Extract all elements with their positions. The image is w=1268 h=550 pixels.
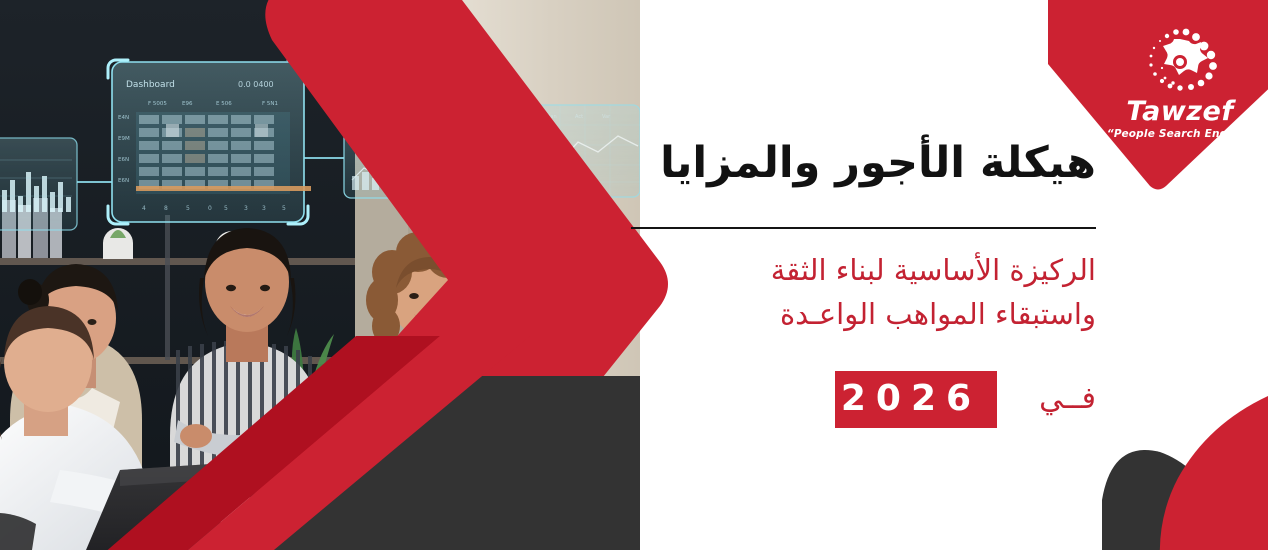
svg-text:0.0 0400: 0.0 0400 [238, 80, 274, 89]
office-photo: Dashboard 0.0 0400 F 5005E96 E 506F 5N1 … [0, 0, 640, 550]
svg-text:E9M: E9M [118, 136, 130, 142]
bar-chart-panel [0, 138, 77, 230]
promotional-banner: Dashboard 0.0 0400 F 5005E96 E 506F 5N1 … [0, 0, 1268, 550]
svg-text:Dashboard: Dashboard [126, 80, 175, 90]
subtitle-line-1: الركيزة الأساسية لبناء الثقة [628, 248, 1096, 292]
svg-text:Index Metrics: Index Metrics [356, 137, 390, 143]
subtitle-line-2: واستبقاء المواهب الواعـدة [628, 292, 1096, 336]
svg-text:Distribution: Distribution [356, 129, 385, 135]
year-prefix-label: فــي [1039, 384, 1096, 414]
svg-text:3: 3 [262, 205, 266, 212]
svg-text:Var: Var [602, 114, 611, 120]
subtitle-block: الركيزة الأساسية لبناء الثقة واستبقاء ال… [628, 248, 1096, 336]
svg-text:F 5005: F 5005 [148, 101, 167, 107]
line-chart-panel: RevPlan ActVar [512, 105, 640, 197]
svg-text:5: 5 [224, 205, 228, 212]
water-glass [312, 440, 354, 502]
svg-text:Rev: Rev [520, 114, 529, 120]
data-table-panel: Dashboard 0.0 0400 F 5005E96 E 506F 5N1 … [108, 60, 311, 224]
svg-text:8: 8 [164, 205, 168, 212]
title-divider [631, 227, 1096, 229]
svg-text:F 5N1: F 5N1 [262, 101, 278, 107]
year-row: فــي 2026 [628, 370, 1096, 428]
svg-text:E 506: E 506 [216, 101, 232, 107]
svg-text:3: 3 [244, 205, 248, 212]
svg-text:E6N: E6N [118, 157, 129, 163]
office-photo-illustration: Dashboard 0.0 0400 F 5005E96 E 506F 5N1 … [0, 0, 640, 550]
headline-panel: هيكلة الأجور والمزايا الركيزة الأساسية ل… [628, 0, 1268, 550]
svg-text:4: 4 [142, 205, 146, 212]
page-title: هيكلة الأجور والمزايا [626, 138, 1096, 189]
svg-text:5: 5 [186, 205, 190, 212]
svg-text:Plan: Plan [546, 114, 557, 120]
svg-text:E96: E96 [182, 101, 193, 107]
area-chart-panel: Distribution Index Metrics [344, 118, 470, 198]
svg-text:5: 5 [282, 205, 286, 212]
year-badge: 2026 [835, 371, 997, 428]
svg-text:Act: Act [575, 114, 583, 120]
svg-text:E6N: E6N [118, 178, 129, 184]
svg-text:0: 0 [208, 205, 212, 212]
svg-text:E4N: E4N [118, 115, 129, 121]
